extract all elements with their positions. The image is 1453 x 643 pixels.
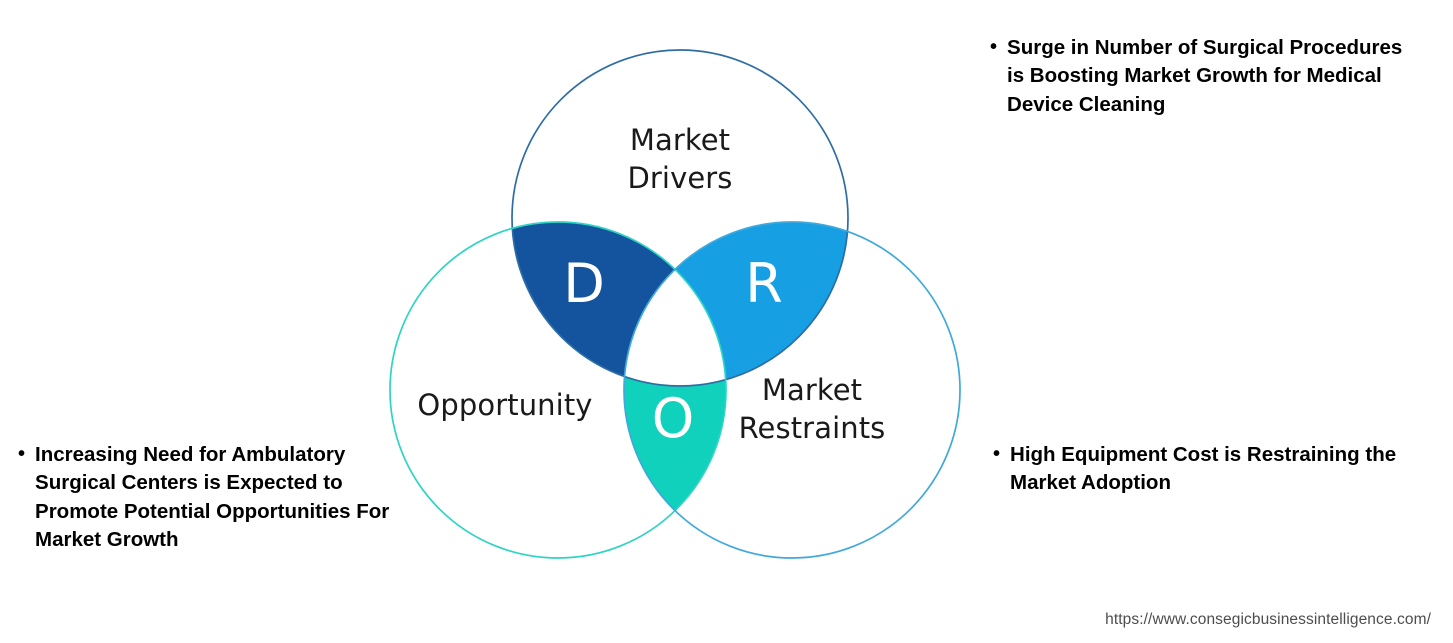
venn-label-restraints-line2: Restraints [739,411,886,445]
venn-letter-r: R [745,252,783,315]
bullet-icon: • [990,34,997,62]
callout-opportunity-text: Increasing Need for Ambulatory Surgical … [35,441,398,554]
venn-letter-o: O [652,387,695,450]
venn-letter-d: D [563,252,605,315]
venn-label-opportunity-line1: Opportunity [417,388,592,422]
callout-market-restraints-text: High Equipment Cost is Restraining the M… [1010,441,1408,498]
diagram-canvas: Market Drivers Opportunity Market Restra… [0,0,1453,643]
venn-diagram: Market Drivers Opportunity Market Restra… [370,22,980,567]
venn-label-drivers-line2: Drivers [627,161,732,195]
venn-label-drivers-line1: Market [630,123,730,157]
callout-opportunity: • Increasing Need for Ambulatory Surgica… [18,441,398,554]
venn-label-restraints-line1: Market [762,373,862,407]
callout-market-drivers-text: Surge in Number of Surgical Procedures i… [1007,34,1410,119]
bullet-icon: • [18,441,25,469]
callout-market-restraints: • High Equipment Cost is Restraining the… [993,441,1408,498]
bullet-icon: • [993,441,1000,469]
source-url[interactable]: https://www.consegicbusinessintelligence… [1105,611,1431,629]
callout-market-drivers: • Surge in Number of Surgical Procedures… [990,34,1410,119]
venn-svg: Market Drivers Opportunity Market Restra… [370,22,980,567]
